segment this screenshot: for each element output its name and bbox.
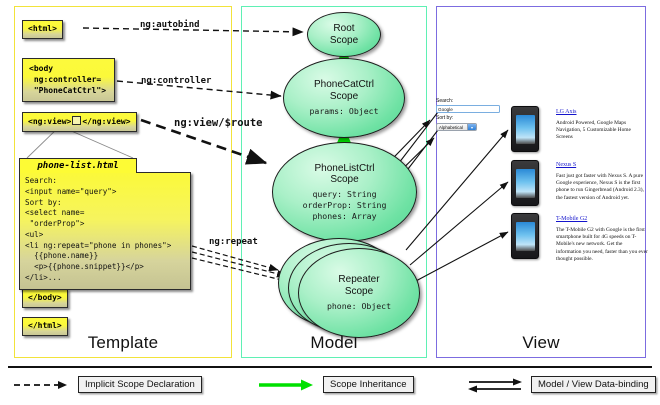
list-item: T-Mobile G2 The T-Mobile G2 with Google … bbox=[556, 216, 648, 263]
body-open-tag: <body ng:controller= "PhoneCatCtrl"> bbox=[22, 58, 115, 102]
ngview-placeholder-square bbox=[72, 116, 81, 125]
scope-phonelistctrl-props: query: String orderProp: String phones: … bbox=[303, 189, 387, 221]
phone-screen bbox=[516, 115, 535, 144]
legend-item-scope-inheritance: Scope Inheritance bbox=[257, 376, 414, 393]
legend-divider bbox=[8, 366, 652, 368]
panel-model-title: Model bbox=[242, 333, 426, 353]
list-item: Nexus S Fast just got faster with Nexus … bbox=[556, 162, 648, 202]
phone-list-filename: phone-list.html bbox=[19, 158, 137, 173]
double-arrow-icon bbox=[465, 377, 525, 393]
search-label: Search: bbox=[436, 98, 504, 104]
sort-label: Sort by: bbox=[436, 115, 504, 121]
scope-repeater-props: phone: Object bbox=[327, 301, 391, 312]
scope-phonecatctrl: PhoneCatCtrlScope params: Object bbox=[283, 58, 405, 138]
panel-view-title: View bbox=[437, 333, 645, 353]
phone-screen bbox=[516, 169, 535, 198]
phone-thumbnail-lg-axis bbox=[511, 106, 539, 152]
scope-phonecatctrl-name: PhoneCatCtrlScope bbox=[314, 79, 374, 101]
phone-snippet: The T-Mobile G2 with Google is the first… bbox=[556, 227, 648, 263]
edge-label-ng-autobind: ng:autobind bbox=[140, 20, 200, 30]
phone-name-link[interactable]: LG Axis bbox=[556, 109, 648, 117]
phone-list-note: phone-list.html Search: <input name="que… bbox=[19, 158, 191, 290]
panel-template-title: Template bbox=[15, 333, 231, 353]
edge-label-ng-repeat: ng:repeat bbox=[209, 237, 258, 247]
phone-thumbnail-nexus-s bbox=[511, 160, 539, 206]
chevron-down-icon: ▾ bbox=[467, 124, 476, 130]
legend: Implicit Scope Declaration Scope Inherit… bbox=[0, 362, 660, 405]
legend-label-inheritance: Scope Inheritance bbox=[323, 376, 414, 393]
phone-name-link[interactable]: Nexus S bbox=[556, 162, 648, 170]
search-widget: Search: Google Sort by: Alphabetical▾ bbox=[436, 98, 504, 131]
scope-root: RootScope bbox=[307, 12, 381, 57]
legend-item-implicit-scope: Implicit Scope Declaration bbox=[12, 376, 202, 393]
sort-select[interactable]: Alphabetical▾ bbox=[436, 123, 477, 131]
html-close-tag: </html> bbox=[22, 317, 68, 336]
search-input[interactable]: Google bbox=[436, 105, 500, 113]
phone-snippet: Android Powered, Google Maps Navigation,… bbox=[556, 120, 648, 142]
scope-repeater-name: RepeaterScope bbox=[338, 274, 379, 296]
legend-label-databinding: Model / View Data-binding bbox=[531, 376, 656, 393]
phone-list-code: Search: <input name="query"> Sort by: <s… bbox=[19, 172, 191, 290]
scope-phonelistctrl: PhoneListCtrlScope query: String orderPr… bbox=[272, 142, 417, 242]
phone-name-link[interactable]: T-Mobile G2 bbox=[556, 216, 648, 224]
diagram-canvas: Template Model View bbox=[0, 0, 660, 405]
legend-label-implicit: Implicit Scope Declaration bbox=[78, 376, 202, 393]
legend-item-data-binding: Model / View Data-binding bbox=[465, 376, 656, 393]
scope-phonecatctrl-props: params: Object bbox=[309, 106, 378, 117]
dashed-arrow-icon bbox=[12, 377, 72, 393]
ngview-open-label: <ng:view> bbox=[28, 117, 71, 126]
edge-label-ng-view-route: ng:view/$route bbox=[174, 117, 263, 129]
body-close-tag: </body> bbox=[22, 289, 68, 308]
ngview-tag: <ng:view></ng:view> bbox=[22, 112, 137, 132]
html-open-tag: <html> bbox=[22, 20, 63, 39]
list-item: LG Axis Android Powered, Google Maps Nav… bbox=[556, 109, 648, 142]
scope-root-name: RootScope bbox=[330, 23, 358, 45]
phone-screen bbox=[516, 222, 535, 251]
scope-repeater: RepeaterScope phone: Object bbox=[298, 248, 420, 338]
phone-snippet: Fast just got faster with Nexus S. A pur… bbox=[556, 173, 648, 202]
sort-select-value: Alphabetical bbox=[439, 125, 463, 130]
green-arrow-icon bbox=[257, 377, 317, 393]
scope-phonelistctrl-name: PhoneListCtrlScope bbox=[314, 163, 374, 185]
phone-thumbnail-t-mobile-g2 bbox=[511, 213, 539, 259]
edge-label-ng-controller: ng:controller bbox=[141, 76, 211, 86]
ngview-close-label: </ng:view> bbox=[82, 117, 130, 126]
